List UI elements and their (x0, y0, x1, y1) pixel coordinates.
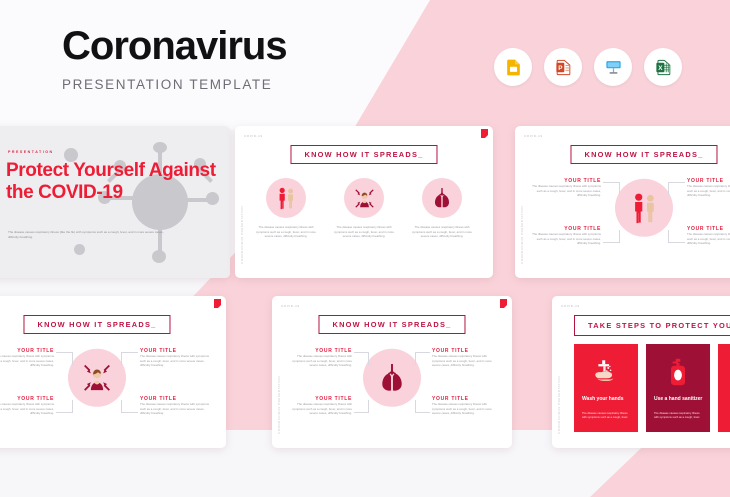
quadrant-item: YOUR TITLE The disease causes respirator… (0, 396, 54, 416)
protect-card[interactable] (718, 344, 730, 432)
column-item: The disease causes respiratory illness w… (409, 178, 475, 239)
card-text: The disease causes respiratory illness w… (582, 412, 630, 420)
protect-card-group: Wash your hands The disease causes respi… (574, 344, 730, 432)
connector-line (354, 352, 369, 365)
quadrant-item: YOUR TITLE The disease causes respirator… (286, 396, 352, 416)
connector-line (415, 352, 430, 365)
three-column-group: The disease causes respiratory illness w… (235, 178, 493, 239)
cover-heading: Protect Yourself Against the COVID-19 (6, 160, 230, 204)
poster-canvas: Coronavirus PRESENTATION TEMPLATE P X (0, 0, 730, 497)
quadrant-item: YOUR TITLE The disease causes respirator… (286, 348, 352, 368)
slide-title-box: TAKE STEPS TO PROTECT YOU (574, 315, 730, 336)
quadrant-group: YOUR TITLE The disease causes respirator… (515, 126, 730, 278)
connector-line (121, 400, 138, 413)
slide-cover[interactable]: PRESENTATION Protect Yourself Against th… (0, 126, 230, 278)
connector-line (603, 182, 620, 195)
quadrant-text: The disease causes respiratory illness w… (0, 354, 54, 368)
slide-title-box: KNOW HOW IT SPREADS_ (290, 145, 437, 164)
quadrant-item: YOUR TITLE The disease causes respirator… (687, 178, 730, 198)
slide-title: KNOW HOW IT SPREADS_ (304, 150, 423, 159)
page-title: Coronavirus (62, 26, 287, 66)
column-item: The disease causes respiratory illness w… (331, 178, 397, 239)
protect-card[interactable]: Wash your hands The disease causes respi… (574, 344, 638, 432)
connector-line (121, 352, 138, 365)
slide-spreads-lungs[interactable]: COVID-19 CORONAVIRUS PRESENTATION KNOW H… (272, 296, 512, 448)
two-people-icon (615, 179, 673, 237)
page-subtitle: PRESENTATION TEMPLATE (62, 77, 287, 92)
quadrant-text: The disease causes respiratory illness w… (687, 184, 730, 198)
card-heading: Wash your hands (582, 396, 624, 403)
virus-graphic-small (74, 244, 85, 255)
excel-icon[interactable]: X (644, 48, 682, 86)
quadrant-group: YOUR TITLE The disease causes respirator… (272, 296, 512, 448)
protect-card[interactable]: Use a hand sanitizer The disease causes … (646, 344, 710, 432)
quadrant-text: The disease causes respiratory illness w… (687, 232, 730, 246)
svg-text:P: P (558, 64, 562, 71)
quadrant-text: The disease causes respiratory illness w… (140, 354, 212, 368)
keynote-icon[interactable] (594, 48, 632, 86)
slide-spreads-people[interactable]: COVID-19 CORONAVIRUS PRESENTATION KNOW H… (515, 126, 730, 278)
slide-spreads-cough[interactable]: COVID-19 CORONAVIRUS PRESENTATION KNOW H… (0, 296, 226, 448)
connector-line (668, 230, 685, 243)
washing-hands-icon (574, 358, 638, 384)
quadrant-item: YOUR TITLE The disease causes respirator… (432, 348, 498, 368)
slide-kicker: COVID-19 (561, 304, 580, 308)
connector-line (415, 400, 430, 413)
quadrant-text: The disease causes respiratory illness w… (529, 184, 601, 198)
sanitizer-bottle-icon (646, 358, 710, 386)
quadrant-text: The disease causes respiratory illness w… (140, 402, 212, 416)
quadrant-item: YOUR TITLE The disease causes respirator… (140, 396, 212, 416)
quadrant-text: The disease causes respiratory illness w… (529, 232, 601, 246)
item-text: The disease causes respiratory illness w… (409, 225, 475, 239)
slide-title: TAKE STEPS TO PROTECT YOU (588, 321, 730, 330)
quadrant-text: The disease causes respiratory illness w… (286, 402, 352, 416)
header: Coronavirus PRESENTATION TEMPLATE (62, 26, 287, 92)
slide-protect[interactable]: COVID-19 CORONAVIRUS PRESENTATION TAKE S… (552, 296, 730, 448)
google-slides-icon[interactable] (494, 48, 532, 86)
cover-paragraph: The disease causes respiratory illness (… (8, 230, 168, 240)
connector-line (56, 352, 73, 365)
quadrant-item: YOUR TITLE The disease causes respirator… (529, 226, 601, 246)
card-text: The disease causes respiratory illness w… (654, 412, 702, 420)
connector-line (603, 230, 620, 243)
person-coughing-icon (344, 178, 384, 218)
app-format-icons: P X (494, 48, 682, 86)
slide-spreads-three[interactable]: COVID-19 CORONAVIRUS PRESENTATION KNOW H… (235, 126, 493, 278)
corner-fold-marker (481, 129, 488, 138)
connector-line (56, 400, 73, 413)
lungs-icon (363, 349, 421, 407)
quadrant-group: YOUR TITLE The disease causes respirator… (0, 296, 226, 448)
quadrant-text: The disease causes respiratory illness w… (286, 354, 352, 368)
card-heading: Use a hand sanitizer (654, 396, 702, 403)
lungs-icon (422, 178, 462, 218)
quadrant-item: YOUR TITLE The disease causes respirator… (432, 396, 498, 416)
cover-kicker: PRESENTATION (8, 150, 54, 154)
slide-vertical-label: CORONAVIRUS PRESENTATION (557, 376, 561, 434)
quadrant-text: The disease causes respiratory illness w… (432, 354, 498, 368)
person-coughing-icon (68, 349, 126, 407)
column-item: The disease causes respiratory illness w… (253, 178, 319, 239)
quadrant-item: YOUR TITLE The disease causes respirator… (0, 348, 54, 368)
quadrant-item: YOUR TITLE The disease causes respirator… (140, 348, 212, 368)
quadrant-text: The disease causes respiratory illness w… (0, 402, 54, 416)
connector-line (668, 182, 685, 195)
virus-knob (152, 250, 166, 263)
virus-knob (153, 142, 167, 153)
slide-kicker: COVID-19 (244, 134, 263, 138)
connector-line (354, 400, 369, 413)
quadrant-item: YOUR TITLE The disease causes respirator… (529, 178, 601, 198)
two-people-icon (266, 178, 306, 218)
powerpoint-icon[interactable]: P (544, 48, 582, 86)
quadrant-text: The disease causes respiratory illness w… (432, 402, 498, 416)
quadrant-item: YOUR TITLE The disease causes respirator… (687, 226, 730, 246)
item-text: The disease causes respiratory illness w… (253, 225, 319, 239)
item-text: The disease causes respiratory illness w… (331, 225, 397, 239)
